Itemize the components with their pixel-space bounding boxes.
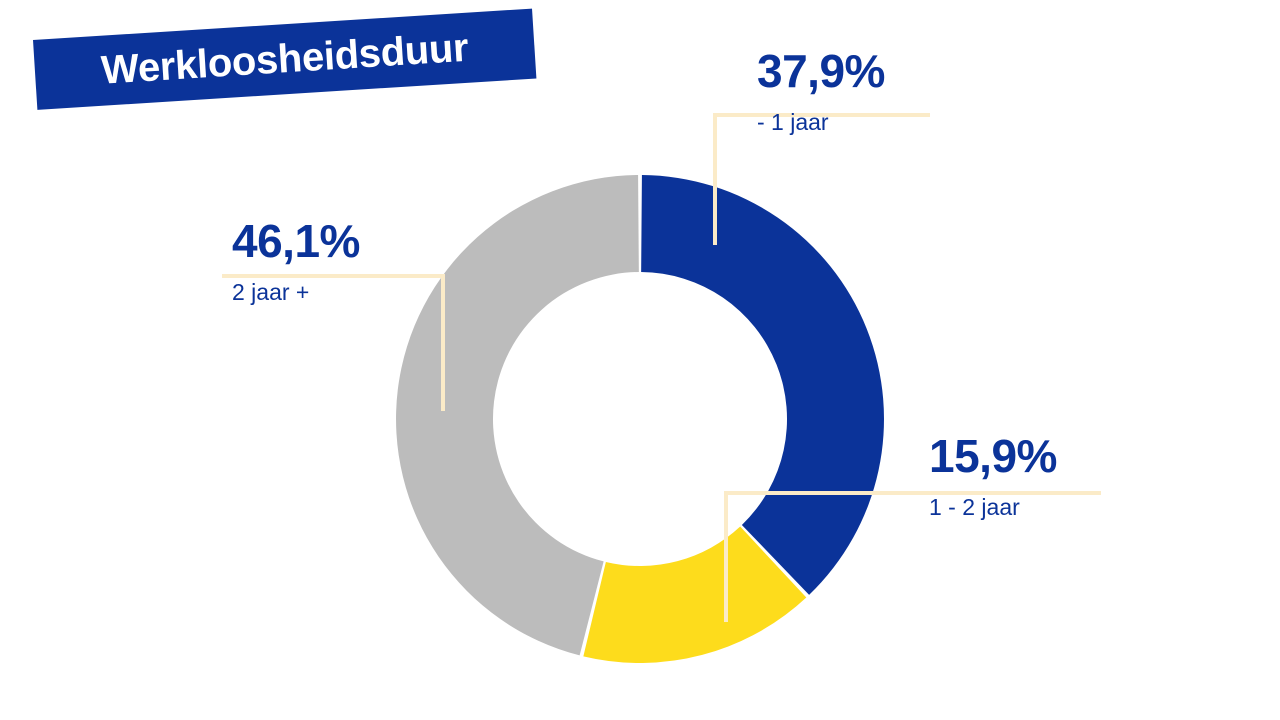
callout-label-2-jaar-plus: 2 jaar + <box>232 281 360 304</box>
donut-chart-svg <box>0 0 1280 720</box>
donut-segment <box>641 175 884 595</box>
leader-line-vertical-minder-1-jaar <box>713 113 717 245</box>
callout-label-1-2-jaar: 1 - 2 jaar <box>929 496 1057 519</box>
callout-value-2-jaar-plus: 46,1% <box>232 218 360 264</box>
callout-2-jaar-plus: 46,1% 2 jaar + <box>232 218 360 304</box>
callout-value-minder-1-jaar: 37,9% <box>757 48 885 94</box>
leader-line-vertical-1-2-jaar <box>724 491 728 622</box>
callout-minder-1-jaar: 37,9% - 1 jaar <box>757 48 885 134</box>
donut-chart <box>0 0 1280 720</box>
slide-canvas: Werkloosheidsduur 37,9% - 1 jaar 46,1% 2… <box>0 0 1280 720</box>
leader-line-vertical-2-jaar-plus <box>441 274 445 411</box>
callout-1-2-jaar: 15,9% 1 - 2 jaar <box>929 433 1057 519</box>
callout-value-1-2-jaar: 15,9% <box>929 433 1057 479</box>
callout-label-minder-1-jaar: - 1 jaar <box>757 111 885 134</box>
